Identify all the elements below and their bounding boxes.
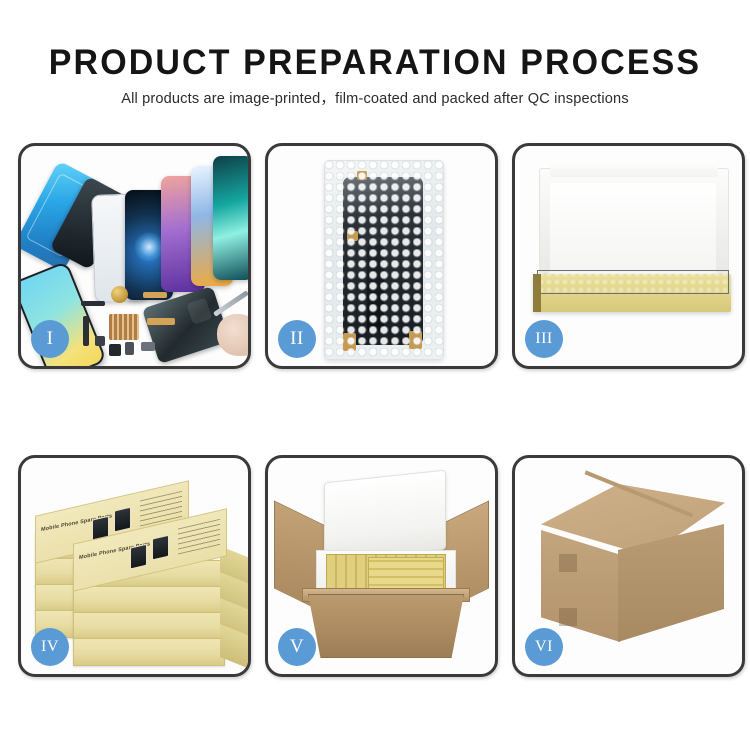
carton-tape-icon <box>559 554 577 572</box>
panel-step-5: V <box>265 455 498 677</box>
foam-sheet-icon <box>550 183 716 275</box>
white-foam-lid-icon <box>539 168 729 286</box>
sensor-part-icon <box>125 342 134 355</box>
tweezers-icon <box>213 290 249 317</box>
logic-board-icon <box>109 314 139 340</box>
button-part-icon <box>141 342 155 351</box>
connector-part-icon <box>81 301 105 306</box>
carton-front-icon <box>308 594 464 658</box>
panel-step-6: VI <box>512 455 745 677</box>
carton-tape-icon <box>559 608 577 626</box>
flex-strip-icon <box>147 318 175 325</box>
flex-strip-icon <box>143 292 167 298</box>
hand-icon <box>217 314 251 356</box>
phone-teal-icon <box>213 156 251 280</box>
product-preparation-infographic: PRODUCT PREPARATION PROCESS All products… <box>0 0 750 750</box>
camera-part-icon <box>109 344 121 356</box>
step-badge-3: III <box>525 320 563 358</box>
flex-cable-icon <box>83 316 89 346</box>
process-step-grid: I II <box>0 0 750 750</box>
foam-lid-icon <box>324 470 446 563</box>
panel-step-3: III <box>512 143 745 369</box>
box-edge-icon <box>533 274 541 312</box>
panel-step-4: Mobile Phone Spare Parts Mobile Phone Sp… <box>18 455 251 677</box>
small-part-icon <box>95 336 105 346</box>
step-badge-2: II <box>278 320 316 358</box>
step-badge-1: I <box>31 320 69 358</box>
step-badge-4: IV <box>31 628 69 666</box>
panel-step-1: I <box>18 143 251 369</box>
step-badge-5: V <box>278 628 316 666</box>
carton-left-face-icon <box>541 530 620 642</box>
panel-step-2: II <box>265 143 498 369</box>
speaker-part-icon <box>111 286 128 303</box>
wrapped-contents-icon <box>537 270 729 294</box>
step-badge-6: VI <box>525 628 563 666</box>
bubble-texture <box>325 161 443 359</box>
bubble-bag-icon <box>324 160 444 360</box>
